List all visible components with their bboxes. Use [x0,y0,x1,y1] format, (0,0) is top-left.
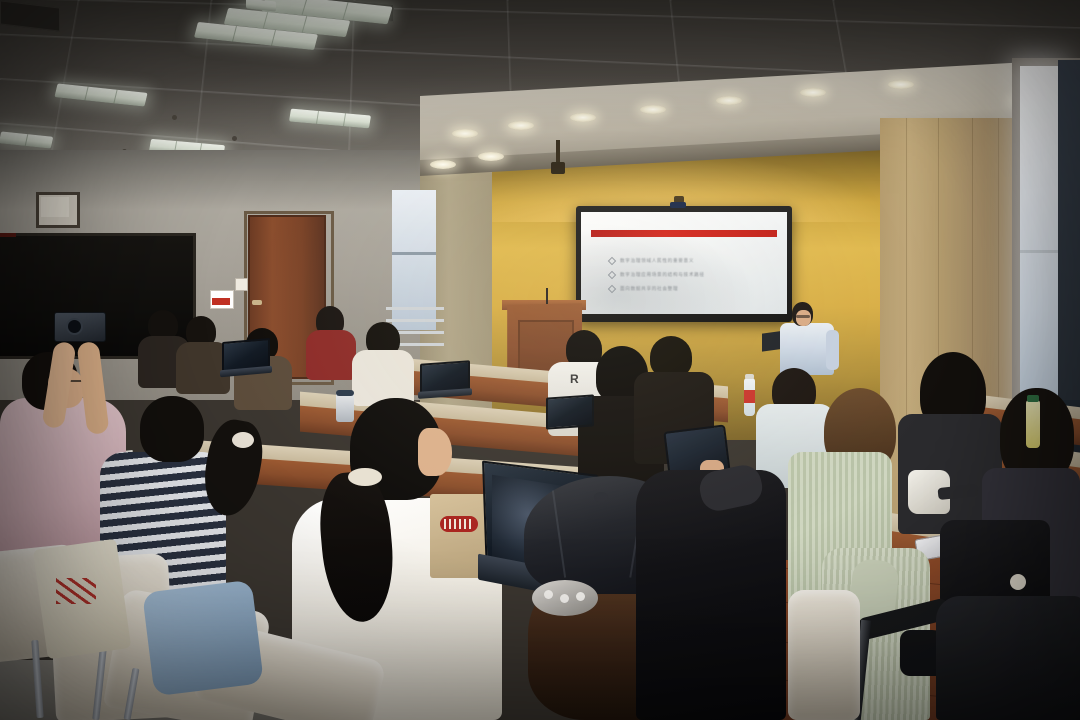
attendee-dark-torso [936,596,1080,720]
attendee-striped-head [140,396,204,462]
fluorescent-ceiling-panel [0,131,53,148]
ceiling-vent [0,0,60,31]
water-bottle[interactable] [1026,400,1040,448]
camera-lens-icon [66,318,83,335]
display-camera-icon [670,202,686,208]
door-handle[interactable] [252,300,262,305]
wall-clock [36,192,80,228]
attendee-white-jacket-face [418,428,452,476]
sprinkler-head [232,136,237,141]
hair-clip-stud [544,590,553,599]
window-mullion-left [392,252,436,255]
bag-charm-icon [1010,574,1026,590]
recessed-downlight [640,105,666,114]
office-chair-back[interactable] [788,590,860,720]
hair-clip-stud [576,592,585,601]
wall-sign-white [235,278,248,291]
wall-mounted-display[interactable]: 数字治理领域人民性的重要意义 数字治理应用场景的结构与技术路径 面向数据共享的社… [576,206,792,322]
screen-glare [581,212,787,314]
lectern-microphone-icon [546,288,548,304]
dark-wall-panel-accent [0,233,16,237]
recessed-downlight [716,96,742,105]
wall-sign-notice-band [212,298,230,305]
recessed-downlight [508,121,534,130]
clock-face [41,197,69,217]
recessed-downlight [570,113,596,122]
thermos-cup-lid [336,390,354,396]
recessed-downlight [888,80,914,89]
tote-bag-logo-text [444,519,474,529]
hair-tie [348,468,382,486]
cap-button-icon [594,492,608,502]
hair-tie [232,432,254,448]
presenter-face [796,310,811,326]
water-bottle-label [744,390,755,403]
window-mullion [1020,250,1060,253]
presenter-glasses-icon [796,315,810,318]
lecture-room-photo: 数字治理领域人民性的重要意义 数字治理应用场景的结构与技术路径 面向数据共享的社… [0,0,1080,720]
recessed-downlight [452,129,478,138]
recessed-downlight [430,160,456,169]
tote-bag-logo-text [56,578,96,604]
laptop[interactable] [546,394,594,429]
water-bottle-cap [745,374,754,379]
presenter-arm [826,330,839,370]
recessed-downlight [800,88,826,97]
thermos-cup[interactable] [336,392,354,422]
recessed-downlight [478,152,504,161]
fluorescent-ceiling-panel [289,109,371,129]
water-bottle-cap [1027,395,1039,402]
attendee-torso-red [306,330,356,380]
denim-jacket [142,580,264,697]
display-screen: 数字治理领域人民性的重要意义 数字治理应用场景的结构与技术路径 面向数据共享的社… [581,212,787,314]
sprinkler-head [172,115,177,120]
hair-clip-stud [560,594,569,603]
ceiling-mount-head [551,162,565,174]
shirt-letter-r: R [570,372,581,386]
